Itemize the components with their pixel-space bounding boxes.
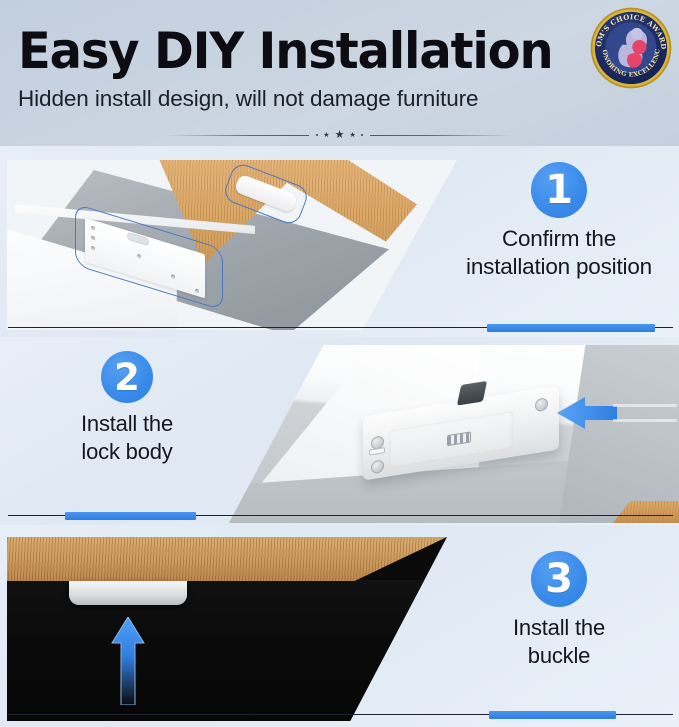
lock-latch-tab bbox=[457, 381, 487, 406]
step-2-text-line1: Install the bbox=[81, 410, 173, 438]
progress-bar-step-3 bbox=[489, 711, 616, 719]
installation-infographic: Easy DIY Installation Hidden install des… bbox=[0, 0, 679, 727]
step-2-text-line2: lock body bbox=[81, 438, 173, 466]
buckle-component bbox=[69, 581, 187, 605]
step-1-caption: 1 Confirm the installation position bbox=[443, 162, 675, 281]
device-screw-hole bbox=[535, 397, 548, 412]
battery-icon bbox=[447, 431, 471, 446]
left-arrow-icon bbox=[557, 395, 677, 431]
step-panel-1: 1 Confirm the installation position bbox=[0, 146, 679, 337]
step-2-divider-row bbox=[0, 512, 679, 520]
divider-star-large-icon: ★ bbox=[335, 130, 345, 141]
device-usb-slot bbox=[369, 447, 385, 456]
step-1-text-line1: Confirm the bbox=[466, 225, 652, 253]
divider-ornament: ★ ★ ★ bbox=[309, 130, 369, 141]
step-3-caption: 3 Install the buckle bbox=[443, 551, 675, 669]
step-3-text: Install the buckle bbox=[513, 614, 605, 669]
step-2-caption: 2 Install the lock body bbox=[12, 351, 242, 465]
divider-rule-right bbox=[370, 135, 512, 136]
moms-choice-awards-seal-icon: MOM'S CHOICE AWARDS HONORING EXCELLENCE bbox=[589, 6, 673, 90]
step-1-text-line2: installation position bbox=[466, 253, 652, 281]
step-panel-2: ·· ·· bbox=[0, 337, 679, 525]
up-arrow-icon bbox=[111, 617, 145, 705]
wood-top-surface bbox=[7, 537, 447, 581]
ornamental-divider: ★ ★ ★ bbox=[0, 128, 679, 142]
step-number-badge-1: 1 bbox=[531, 162, 587, 218]
divider-dot-icon bbox=[316, 134, 318, 136]
divider-rule-left bbox=[167, 135, 309, 136]
step-3-divider-row bbox=[0, 711, 679, 719]
device-label-text: ·· ·· bbox=[393, 416, 414, 424]
step-number-badge-2: 2 bbox=[101, 351, 153, 403]
divider-star-small-icon: ★ bbox=[323, 132, 329, 139]
divider-star-small-icon: ★ bbox=[349, 132, 355, 139]
step-panel-3: 3 Install the buckle bbox=[0, 525, 679, 727]
page-title: Easy DIY Installation bbox=[18, 22, 553, 80]
device-screw-hole bbox=[371, 459, 384, 474]
page-subtitle: Hidden install design, will not damage f… bbox=[18, 86, 478, 112]
step-1-divider-row bbox=[0, 324, 679, 332]
header-banner: Easy DIY Installation Hidden install des… bbox=[0, 0, 679, 146]
step-1-text: Confirm the installation position bbox=[466, 225, 652, 281]
step-3-text-line2: buckle bbox=[513, 642, 605, 670]
progress-bar-step-2 bbox=[65, 512, 196, 520]
step-2-text: Install the lock body bbox=[81, 410, 173, 465]
step-number-badge-3: 3 bbox=[531, 551, 587, 607]
progress-bar-step-1 bbox=[487, 324, 655, 332]
step-3-text-line1: Install the bbox=[513, 614, 605, 642]
divider-dot-icon bbox=[361, 134, 363, 136]
